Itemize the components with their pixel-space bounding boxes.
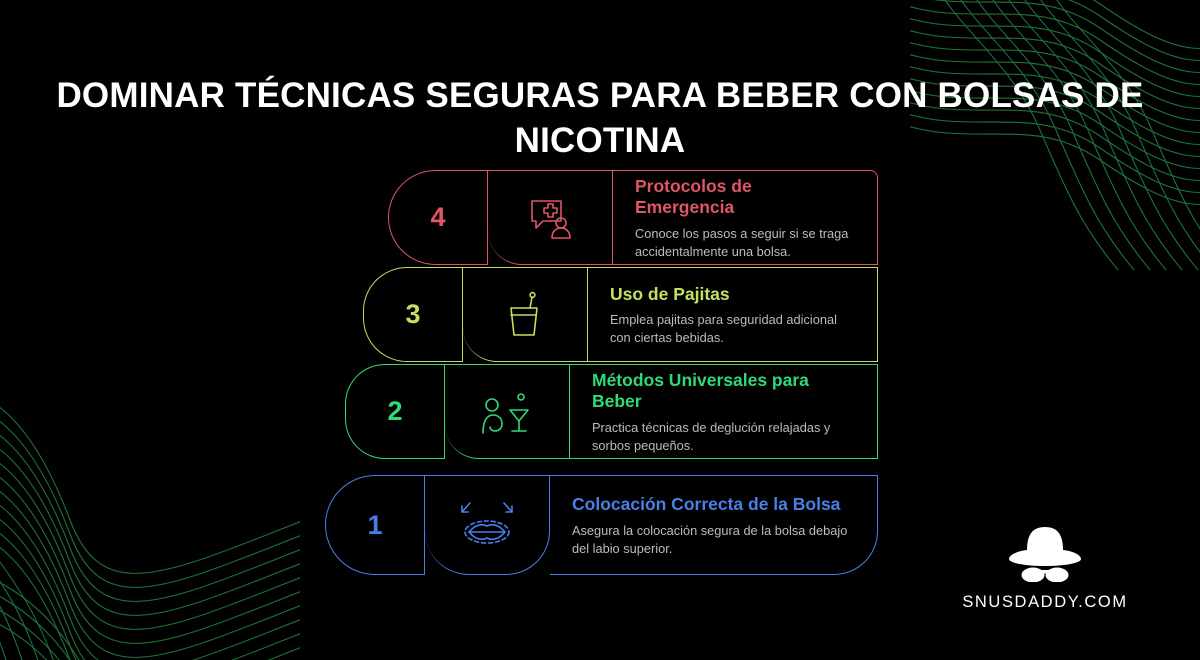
step-number-4: 4 [430, 202, 445, 233]
step-card-2[interactable]: 2 Métodos Universales para Beber Practic… [345, 364, 878, 459]
step-number-badge-2: 2 [345, 364, 445, 459]
step-card-1[interactable]: 1 Colocación Correcta de la Bolsa Asegur… [325, 475, 878, 575]
step-number-badge-1: 1 [325, 475, 425, 575]
step-title-4: Protocolos de Emergencia [635, 176, 855, 219]
step-text-pod-3: Uso de Pajitas Emplea pajitas para segur… [588, 267, 878, 362]
bowler-hat-sunglasses-icon [950, 524, 1140, 587]
step-number-badge-3: 3 [363, 267, 463, 362]
step-description-3: Emplea pajitas para seguridad adicional … [610, 311, 855, 347]
step-icon-pod-4 [488, 170, 613, 265]
step-number-1: 1 [367, 510, 382, 541]
step-title-2: Métodos Universales para Beber [592, 370, 855, 413]
step-text-pod-4: Protocolos de Emergencia Conoce los paso… [613, 170, 878, 265]
step-icon-pod-2 [445, 364, 570, 459]
page-title: Dominar técnicas seguras para beber con … [0, 74, 1200, 164]
steps-stack: 4 Protocolos de Emergencia Conoce los pa… [0, 170, 1200, 570]
brand-logo-text: SNUSDADDY.COM [950, 593, 1140, 612]
step-card-4[interactable]: 4 Protocolos de Emergencia Conoce los pa… [388, 170, 878, 265]
lips-placement-icon [456, 499, 518, 551]
step-card-3[interactable]: 3 Uso de Pajitas Emplea pajitas para seg… [363, 267, 878, 362]
step-title-1: Colocación Correcta de la Bolsa [572, 494, 855, 516]
medical-chat-person-icon [527, 195, 573, 241]
step-text-pod-2: Métodos Universales para Beber Practica … [570, 364, 878, 459]
step-title-3: Uso de Pajitas [610, 284, 855, 306]
step-number-badge-4: 4 [388, 170, 488, 265]
step-number-2: 2 [387, 396, 402, 427]
cup-with-straw-icon [503, 291, 547, 339]
brand-logo[interactable]: SNUSDADDY.COM [950, 524, 1140, 612]
step-icon-pod-1 [425, 475, 550, 575]
step-text-pod-1: Colocación Correcta de la Bolsa Asegura … [550, 475, 878, 575]
step-number-3: 3 [405, 299, 420, 330]
person-with-cocktail-icon [481, 388, 533, 436]
step-description-1: Asegura la colocación segura de la bolsa… [572, 522, 855, 558]
step-icon-pod-3 [463, 267, 588, 362]
step-description-4: Conoce los pasos a seguir si se traga ac… [635, 225, 855, 261]
step-description-2: Practica técnicas de deglución relajadas… [592, 419, 855, 455]
